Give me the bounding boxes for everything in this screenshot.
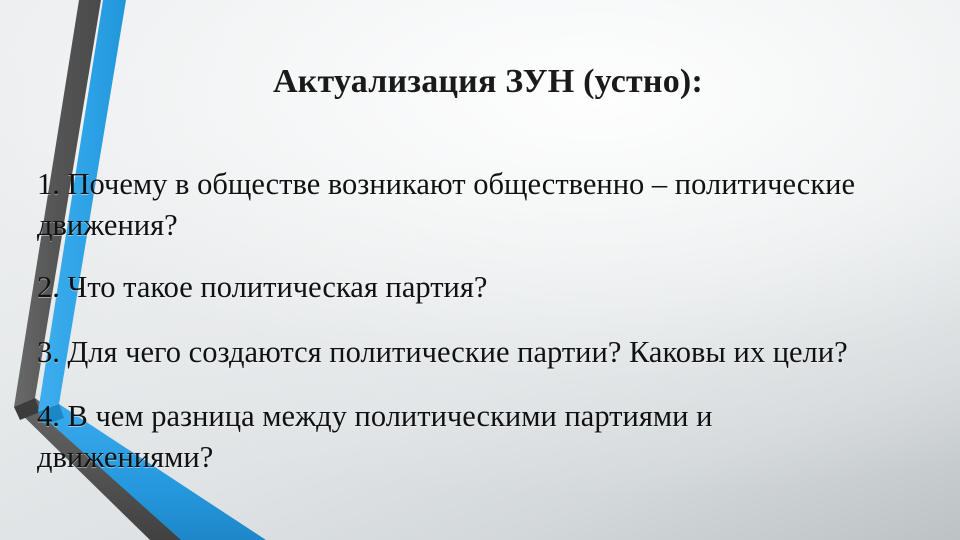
page-title: Актуализация ЗУН (устно): [0,63,960,101]
question-item-4: 4. В чем разница между политическими пар… [37,396,875,478]
question-item-1: 1. Почему в обществе возникают обществен… [37,164,875,246]
slide-canvas: Актуализация ЗУН (устно): 1. Почему в об… [0,0,960,540]
question-item-2: 2. Что такое политическая партия? [37,267,875,308]
question-list: 1. Почему в обществе возникают обществен… [37,164,875,478]
question-item-3: 3. Для чего создаются политические парти… [37,332,875,373]
